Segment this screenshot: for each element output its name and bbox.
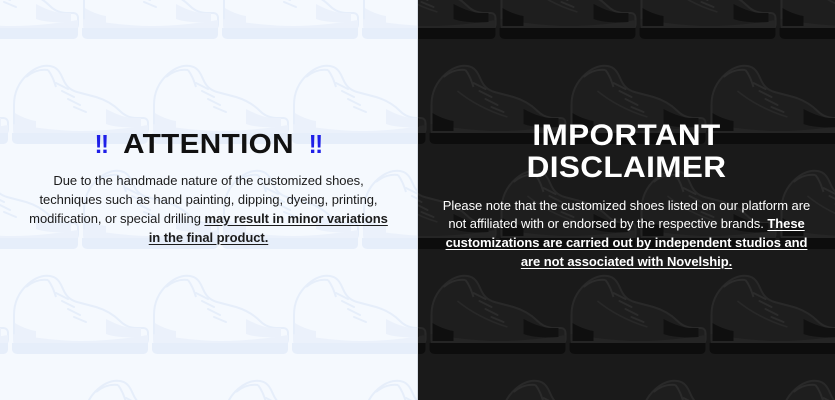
disclaimer-content: IMPORTANT DISCLAIMER Please note that th… [418, 120, 835, 272]
attention-headline-text: ATTENTION [123, 130, 294, 158]
attention-headline: ‼ ATTENTION ‼ [17, 130, 400, 158]
double-exclamation-icon-right: ‼ [309, 131, 322, 157]
disclaimer-headline-line-1: IMPORTANT [431, 120, 823, 152]
attention-body: Due to the handmade nature of the custom… [28, 172, 389, 247]
promo-banner: ‼ ATTENTION ‼ Due to the handmade nature… [0, 0, 835, 400]
attention-content: ‼ ATTENTION ‼ Due to the handmade nature… [0, 130, 417, 247]
disclaimer-body: Please note that the customized shoes li… [440, 197, 813, 272]
disclaimer-body-normal: Please note that the customized shoes li… [443, 198, 810, 232]
double-exclamation-icon-left: ‼ [95, 131, 108, 157]
attention-panel: ‼ ATTENTION ‼ Due to the handmade nature… [0, 0, 417, 400]
disclaimer-panel: IMPORTANT DISCLAIMER Please note that th… [417, 0, 835, 400]
disclaimer-headline-line-2: DISCLAIMER [431, 152, 823, 184]
disclaimer-headline: IMPORTANT DISCLAIMER [431, 120, 823, 184]
